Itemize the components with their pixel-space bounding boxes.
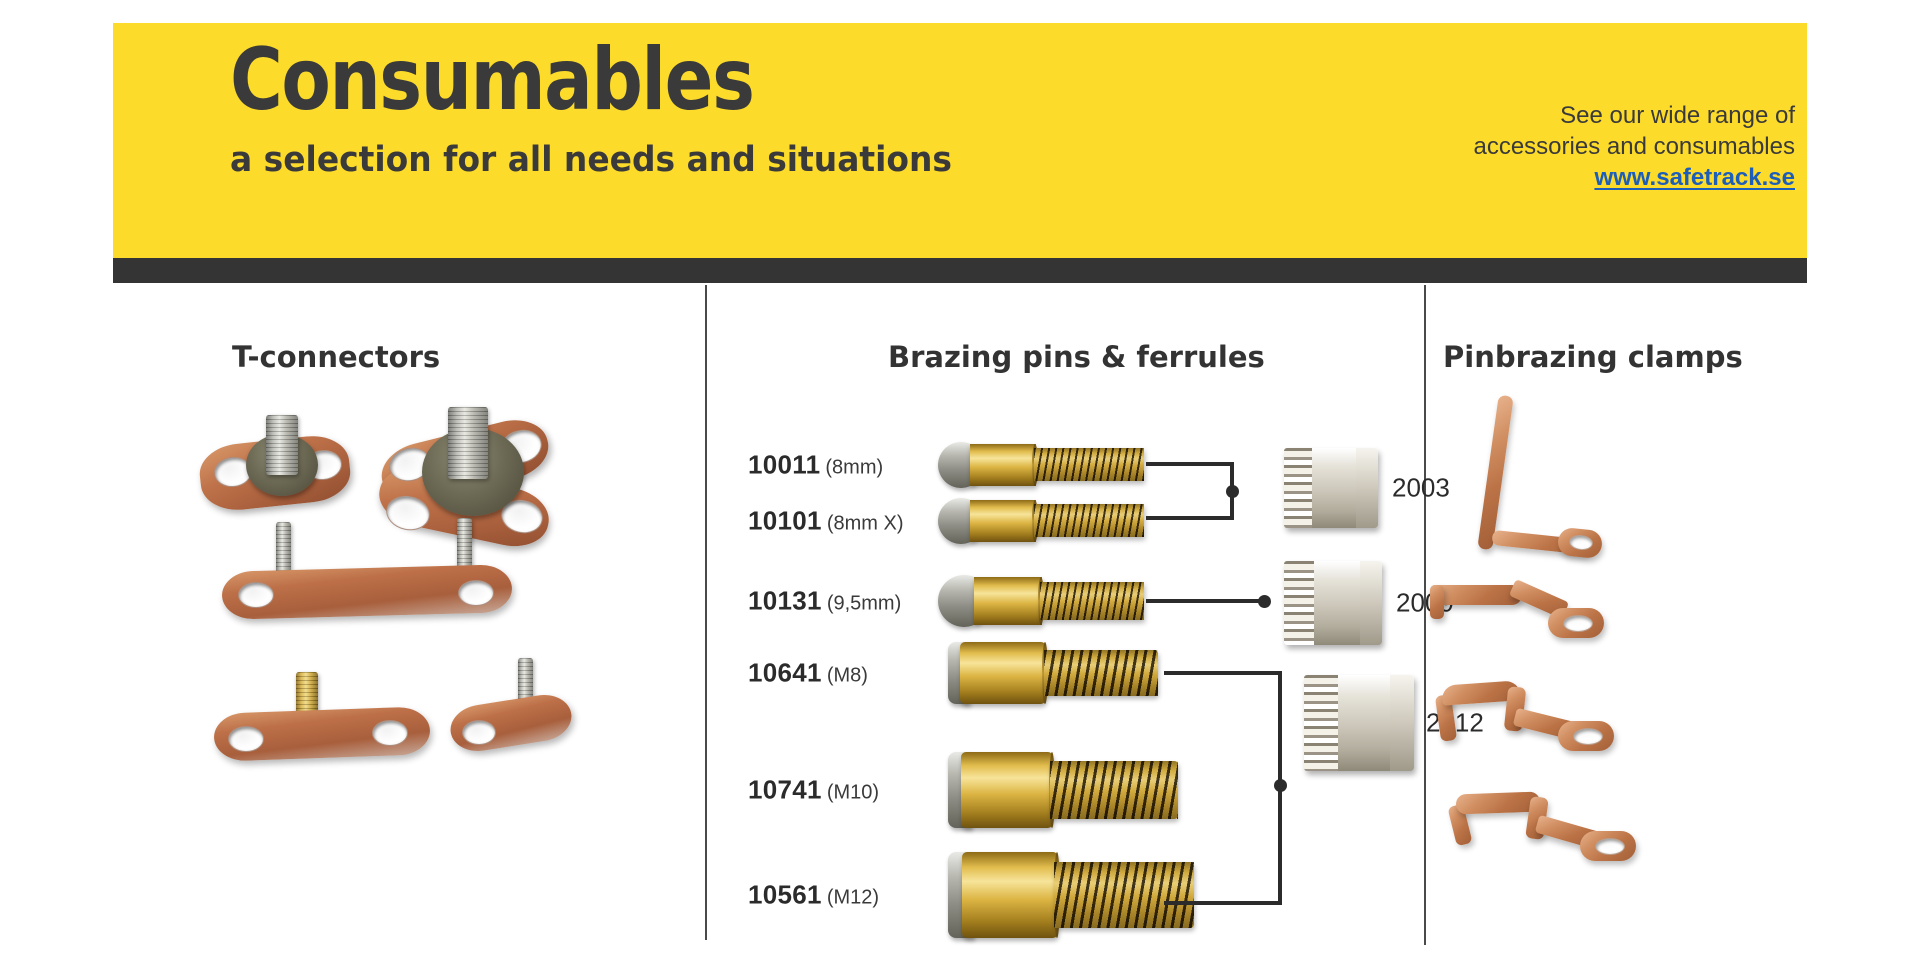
pin-code-10101: 10101 bbox=[748, 506, 822, 536]
pin-code-10641: 10641 bbox=[748, 658, 822, 688]
page-subtitle: a selection for all needs and situations bbox=[230, 143, 1076, 178]
pin-size-10741: (M10) bbox=[827, 782, 879, 804]
t-connectors-gallery bbox=[200, 410, 690, 910]
pin-size-10641: (M8) bbox=[827, 665, 868, 687]
heading-pinbrazing-clamps: Pinbrazing clamps bbox=[1443, 340, 1743, 374]
pin-code-10561: 10561 bbox=[748, 880, 822, 910]
page-title: Consumables bbox=[230, 37, 1067, 123]
brazing-pins-diagram: 10011(8mm) 10101(8mm X) bbox=[706, 285, 1424, 945]
pin-size-10131: (9,5mm) bbox=[827, 593, 901, 615]
pin-graphic-10101 bbox=[938, 498, 1143, 544]
bracket-2012 bbox=[1164, 667, 1304, 907]
pinbrazing-clamps-gallery bbox=[1430, 395, 1830, 935]
ferrule-graphic-2003 bbox=[1284, 448, 1378, 528]
pin-graphic-10011 bbox=[938, 442, 1143, 488]
website-link[interactable]: www.safetrack.se bbox=[1594, 162, 1795, 193]
promo-line-2: accessories and consumables bbox=[1473, 131, 1795, 162]
promo-block: See our wide range of accessories and co… bbox=[1473, 100, 1795, 194]
pin-code-10131: 10131 bbox=[748, 586, 822, 616]
pin-graphic-10131 bbox=[938, 575, 1143, 627]
pin-size-10101: (8mm X) bbox=[827, 513, 904, 535]
promo-line-1: See our wide range of bbox=[1473, 100, 1795, 131]
pin-size-10561: (M12) bbox=[827, 887, 879, 909]
ferrule-graphic-2009 bbox=[1284, 561, 1382, 645]
pin-graphic-10741 bbox=[948, 752, 1178, 828]
title-block: Consumables a selection for all needs an… bbox=[230, 37, 1130, 178]
ferrule-graphic-2012 bbox=[1304, 675, 1414, 771]
pin-code-10741: 10741 bbox=[748, 775, 822, 805]
heading-t-connectors: T-connectors bbox=[232, 340, 440, 374]
pin-size-10011: (8mm) bbox=[825, 457, 883, 479]
pin-graphic-10641 bbox=[948, 642, 1158, 704]
pin-graphic-10561 bbox=[948, 852, 1194, 938]
poster-page: Consumables a selection for all needs an… bbox=[0, 0, 1920, 974]
bracket-2009 bbox=[1146, 591, 1286, 615]
pin-code-10011: 10011 bbox=[748, 450, 820, 480]
bracket-2003 bbox=[1146, 450, 1276, 595]
header-dark-rule bbox=[113, 258, 1807, 283]
